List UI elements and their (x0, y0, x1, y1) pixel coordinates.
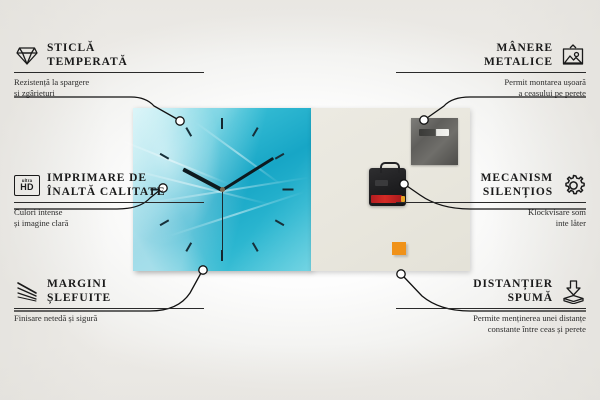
feature-metal-hangers: MÂNERE METALICE Permit montarea ușoară a… (396, 42, 586, 98)
ultra-hd-icon-large-text: HD (20, 183, 33, 192)
connector-endpoint-metal-hangers (420, 116, 428, 124)
feature-title-line-1: MECANISM (481, 172, 553, 186)
feature-divider (14, 202, 204, 203)
feature-desc-line-1: Permite menținerea unei distanțe (396, 313, 586, 324)
connector-metal-hangers (427, 97, 586, 118)
feature-divider (14, 308, 204, 309)
feature-desc-line-1: Finisare netedă și sigură (14, 313, 204, 324)
feature-desc-line-1: Klockvisare som (396, 207, 586, 218)
feature-title-line-2: ÎNALTĂ CALITATE (47, 186, 165, 200)
feature-title-line-2: SILENȚIOS (481, 186, 553, 200)
feature-divider (14, 72, 204, 73)
feature-divider (396, 308, 586, 309)
feature-title-line-2: ȘLEFUITE (47, 292, 111, 306)
picture-frame-hanger-icon (560, 43, 586, 69)
feature-desc-line-2: a ceasului pe perete (396, 88, 586, 99)
feature-title-line-1: MARGINI (47, 278, 111, 292)
gear-icon (560, 173, 586, 199)
feature-desc-line-1: Permit montarea ușoară (396, 77, 586, 88)
diamond-icon (14, 43, 40, 69)
feature-divider (396, 72, 586, 73)
feature-desc-line-2: și zgârieturi (14, 88, 204, 99)
connector-endpoint-tempered-glass (176, 117, 184, 125)
feature-polished-edges: MARGINI ȘLEFUITE Finisare netedă și sigu… (14, 278, 204, 324)
feature-silent-mechanism: MECANISM SILENȚIOS Klockvisare som inte … (396, 172, 586, 228)
feature-desc-line-1: Rezistență la spargere (14, 77, 204, 88)
feature-desc-line-2: constante între ceas și perete (396, 324, 586, 335)
feature-desc-line-2: și imagine clară (14, 218, 204, 229)
connector-endpoint-foam-spacer (397, 270, 405, 278)
feature-title-line-1: MÂNERE (484, 42, 553, 56)
feature-desc-line-2: inte låter (396, 218, 586, 229)
infographic-canvas: STICLĂ TEMPERATĂ Rezistență la spargere … (0, 0, 600, 400)
feature-desc-line-1: Culori intense (14, 207, 204, 218)
ultra-hd-icon: ultra HD (14, 173, 40, 199)
connector-endpoint-polished-edges (199, 266, 207, 274)
connector-tempered-glass (14, 97, 177, 119)
feature-title-line-2: TEMPERATĂ (47, 56, 128, 70)
feature-title-line-2: METALICE (484, 56, 553, 70)
feature-title-line-1: STICLĂ (47, 42, 128, 56)
feature-title-line-2: SPUMĂ (473, 292, 553, 306)
feature-tempered-glass: STICLĂ TEMPERATĂ Rezistență la spargere … (14, 42, 204, 98)
feature-title-line-1: DISTANȚIER (473, 278, 553, 292)
diagonal-lines-icon (14, 279, 40, 305)
feature-high-quality-print: ultra HD IMPRIMARE DE ÎNALTĂ CALITATE Cu… (14, 172, 204, 228)
feature-foam-spacer: DISTANȚIER SPUMĂ Permite menținerea unei… (396, 278, 586, 334)
press-down-arrow-icon (560, 279, 586, 305)
feature-title-line-1: IMPRIMARE DE (47, 172, 165, 186)
feature-divider (396, 202, 586, 203)
